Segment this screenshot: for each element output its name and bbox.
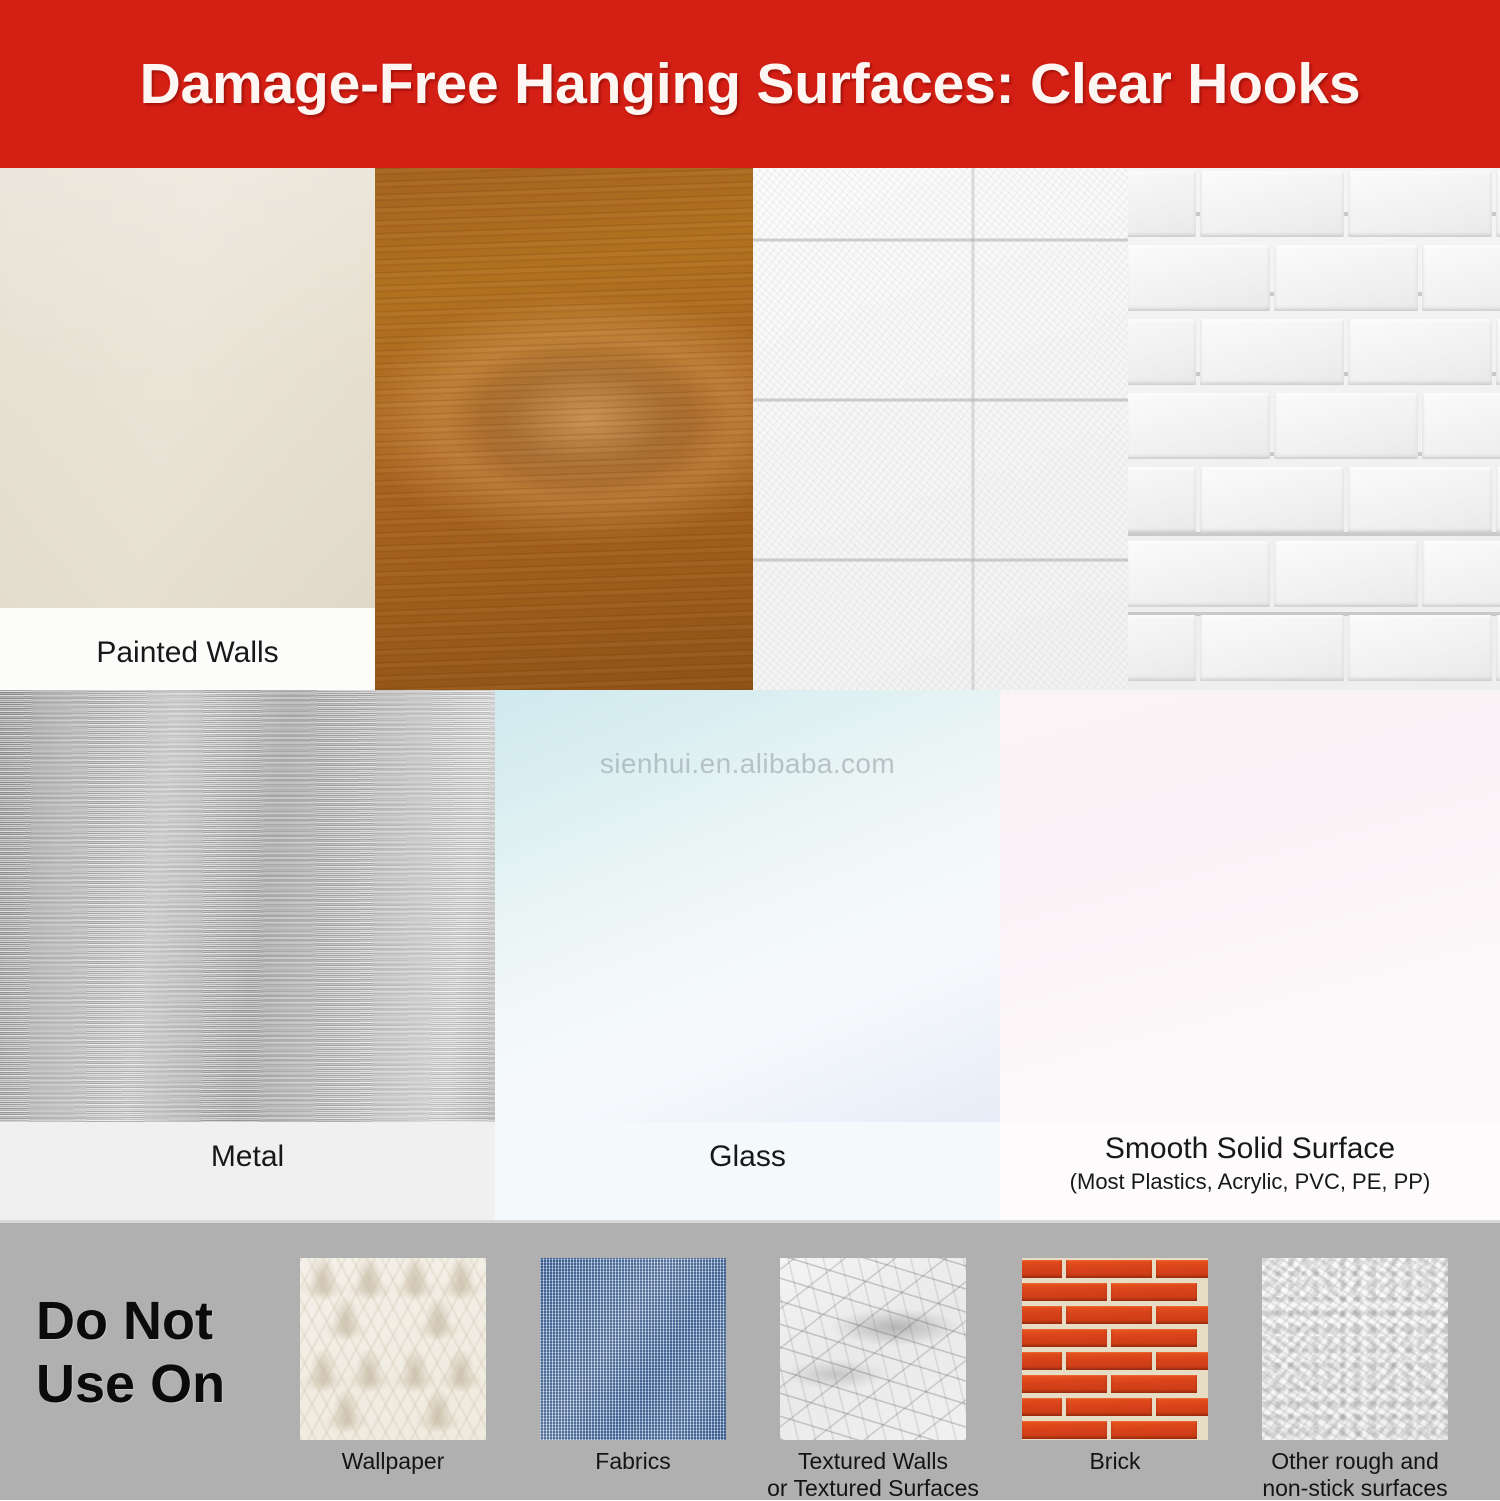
surface-panel-smooth-solid-surface: Smooth Solid Surface (Most Plastics, Acr… [1000, 690, 1500, 1220]
surface-label-metal: Metal [0, 1140, 495, 1174]
surface-sublabel-smooth-solid: (Most Plastics, Acrylic, PVC, PE, PP) [1000, 1170, 1500, 1195]
swatch-wallpaper [300, 1258, 486, 1440]
do-not-use-heading-line1: Do Not [36, 1290, 286, 1353]
swatch-other-rough-surfaces [1262, 1258, 1448, 1440]
surface-label-glass: Glass [495, 1140, 1000, 1174]
swatch-label-brick: Brick [990, 1448, 1240, 1475]
surface-compatibility-infographic: Damage-Free Hanging Surfaces: Clear Hook… [0, 0, 1500, 1500]
swatch-label-other-rough: Other rough and non-stick surfaces [1230, 1448, 1480, 1501]
swatch-textured-walls [780, 1258, 966, 1440]
swatch-label-wallpaper-line1: Wallpaper [268, 1448, 518, 1475]
wood-grain-texture [375, 168, 753, 690]
swatch-label-textured-line2: or Textured Surfaces [748, 1475, 998, 1501]
cracked-plaster-texture [780, 1258, 966, 1440]
swatch-fabrics [540, 1258, 726, 1440]
swatch-label-fabrics: Fabrics [508, 1448, 758, 1475]
swatch-label-textured-walls: Textured Walls or Textured Surfaces [748, 1448, 998, 1501]
wallpaper-texture [300, 1258, 486, 1440]
swatch-label-other-rough-line1: Other rough and [1230, 1448, 1480, 1475]
swatch-brick [1022, 1258, 1208, 1440]
swatch-label-other-rough-line2: non-stick surfaces [1230, 1475, 1480, 1501]
swatch-label-brick-line1: Brick [990, 1448, 1240, 1475]
surface-panel-metal: Metal [0, 690, 495, 1220]
stipple-texture [1262, 1258, 1448, 1440]
surface-label-smooth-solid: Smooth Solid Surface [1000, 1132, 1500, 1166]
brick-texture [1022, 1258, 1208, 1440]
swatch-label-textured-line1: Textured Walls [748, 1448, 998, 1475]
title-banner: Damage-Free Hanging Surfaces: Clear Hook… [0, 0, 1500, 168]
do-not-use-heading-line2: Use On [36, 1353, 286, 1416]
surface-panel-painted-walls: Painted Walls [0, 168, 375, 690]
page-title: Damage-Free Hanging Surfaces: Clear Hook… [140, 51, 1361, 117]
surface-panel-painted-varnished-wood: Painted/Varnished Wood [375, 168, 753, 690]
swatch-label-fabrics-line1: Fabrics [508, 1448, 758, 1475]
surface-panel-painted-cinder-block: Painted Cinder Block or Concrete [753, 168, 1128, 690]
surface-panel-tile: Tile [1128, 168, 1500, 690]
surface-label-painted-walls: Painted Walls [0, 636, 375, 670]
surface-panel-glass: sienhui.en.alibaba.com Glass [495, 690, 1000, 1220]
denim-fabric-texture [540, 1258, 726, 1440]
subway-tile-texture [1128, 168, 1500, 690]
cinder-block-texture [753, 168, 1128, 690]
swatch-label-wallpaper: Wallpaper [268, 1448, 518, 1475]
do-not-use-heading: Do Not Use On [36, 1290, 286, 1415]
